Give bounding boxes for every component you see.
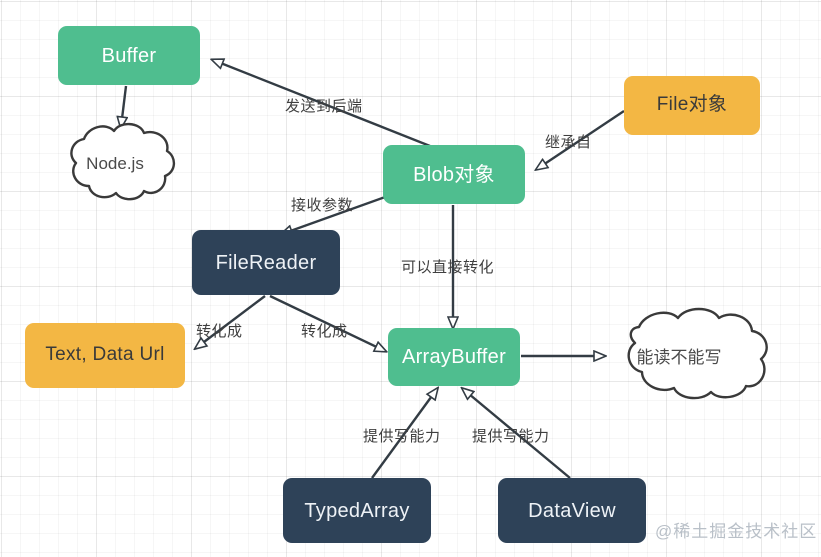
node-blob-label: Blob对象: [413, 163, 495, 187]
node-typedarray[interactable]: TypedArray: [283, 478, 431, 543]
edge-label-convert-to-text: 转化成: [196, 320, 243, 341]
edge-label-convert-to-arraybuffer-text: 转化成: [301, 323, 348, 340]
edge-label-direct-convert-text: 可以直接转化: [401, 259, 494, 276]
edge-label-receives-params: 接收参数: [291, 194, 353, 215]
cloud-nodejs: [71, 124, 174, 199]
edge-label-direct-convert: 可以直接转化: [401, 256, 494, 277]
node-text-data-url[interactable]: Text, Data Url: [25, 323, 185, 388]
node-readonly-label-wrap[interactable]: 能读不能写: [606, 314, 752, 396]
node-typedarray-label: TypedArray: [304, 499, 409, 523]
diagram-canvas: Buffer Node.js Blob对象 File对象 FileReader …: [0, 0, 821, 557]
edge-label-write-ability-dataview: 提供写能力: [472, 425, 550, 446]
node-readonly-label: 能读不能写: [637, 343, 722, 368]
edge-label-inherits-from: 继承自: [545, 131, 592, 152]
watermark: @稀土掘金技术社区: [655, 517, 817, 542]
node-filereader-label: FileReader: [216, 251, 317, 275]
node-arraybuffer-label: ArrayBuffer: [402, 345, 506, 369]
node-dataview[interactable]: DataView: [498, 478, 646, 543]
edge-label-inherits-from-text: 继承自: [545, 134, 592, 151]
edge-label-send-to-backend: 发送到后端: [285, 95, 363, 116]
cloud-readonly: [629, 309, 767, 398]
node-text-data-url-label: Text, Data Url: [45, 344, 164, 367]
node-file-label: File对象: [657, 94, 727, 117]
edge-label-convert-to-text-text: 转化成: [196, 323, 243, 340]
node-buffer-label: Buffer: [102, 44, 157, 68]
edge-buffer-to-nodejs: [121, 86, 126, 127]
node-dataview-label: DataView: [528, 499, 616, 523]
node-nodejs-label-wrap[interactable]: Node.js: [56, 128, 174, 200]
edge-label-receives-params-text: 接收参数: [291, 197, 353, 214]
edge-label-send-to-backend-text: 发送到后端: [285, 98, 363, 115]
edge-label-write-ability-dataview-text: 提供写能力: [472, 428, 550, 445]
node-file[interactable]: File对象: [624, 76, 760, 135]
edge-label-write-ability-typedarray-text: 提供写能力: [363, 428, 441, 445]
node-filereader[interactable]: FileReader: [192, 230, 340, 295]
edge-label-convert-to-arraybuffer: 转化成: [301, 320, 348, 341]
node-buffer[interactable]: Buffer: [58, 26, 200, 85]
node-arraybuffer[interactable]: ArrayBuffer: [388, 328, 520, 386]
node-nodejs-label: Node.js: [86, 154, 144, 174]
node-blob[interactable]: Blob对象: [383, 145, 525, 204]
edge-label-write-ability-typedarray: 提供写能力: [363, 425, 441, 446]
watermark-text: @稀土掘金技术社区: [655, 522, 817, 541]
